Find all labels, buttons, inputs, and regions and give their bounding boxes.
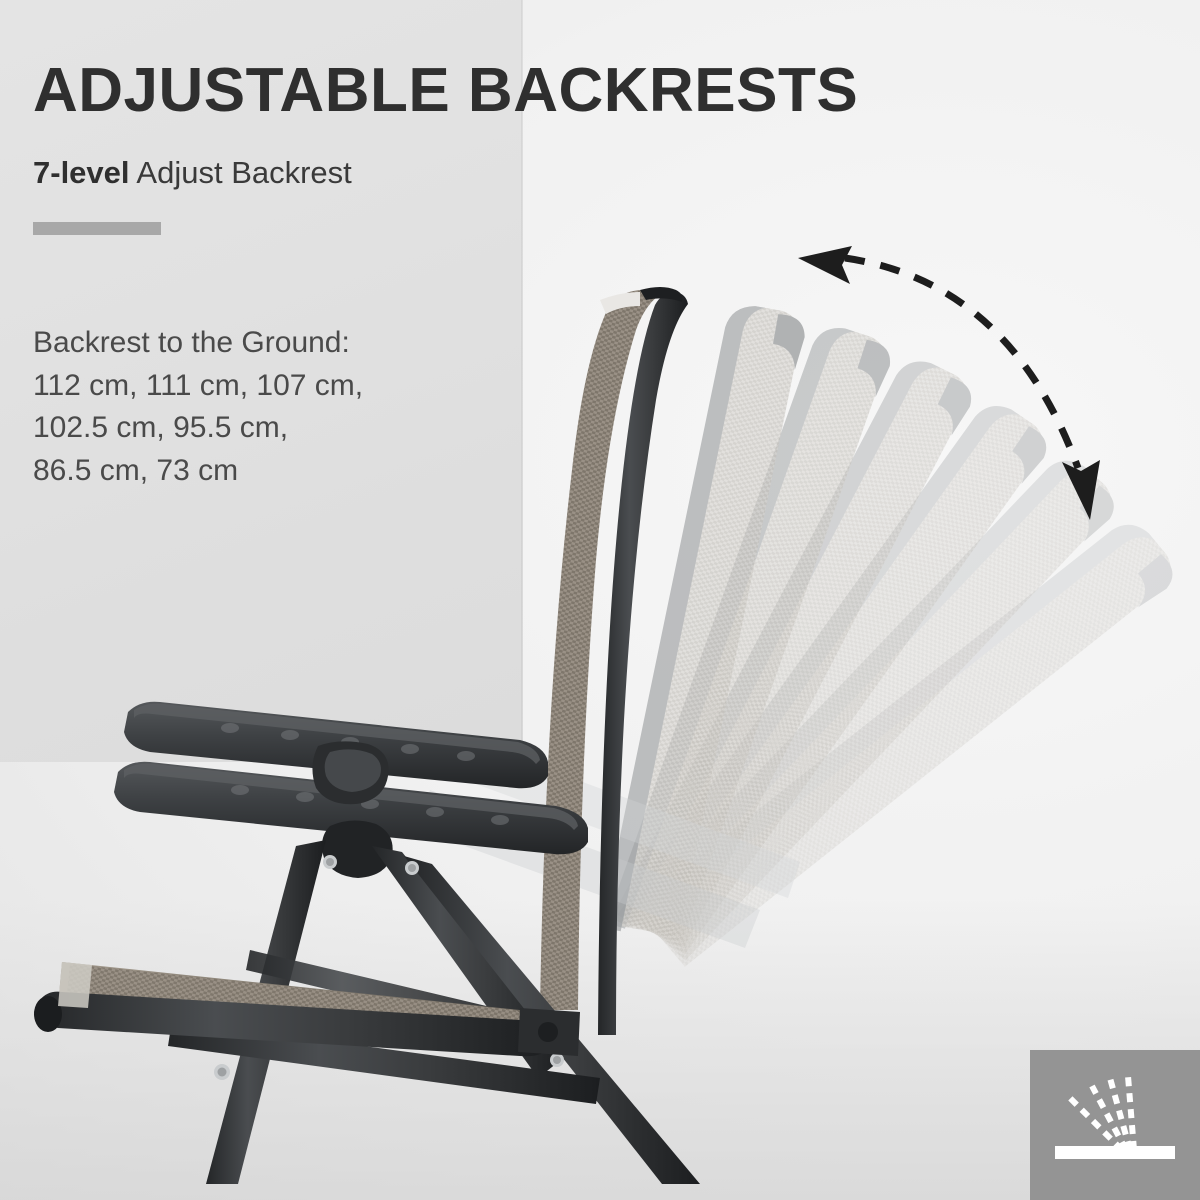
subtitle-strong: 7-level bbox=[33, 155, 130, 190]
accent-bar bbox=[33, 222, 161, 235]
badge-ground-bar bbox=[1055, 1146, 1175, 1159]
infographic-canvas: ADJUSTABLE BACKRESTS 7-level Adjust Back… bbox=[0, 0, 1200, 1200]
seat-back-junction bbox=[518, 1008, 580, 1056]
badge-dash-line-1 bbox=[1070, 1098, 1122, 1150]
badge-diagram bbox=[1030, 1050, 1200, 1200]
badge-dash-line-3 bbox=[1110, 1078, 1130, 1150]
spec-line-1: 112 cm, 111 cm, 107 cm, bbox=[33, 365, 483, 408]
spec-line-3: 86.5 cm, 73 cm bbox=[33, 450, 483, 493]
backrest-ghost-positions bbox=[601, 298, 1183, 985]
page-title: ADJUSTABLE BACKRESTS bbox=[33, 60, 858, 122]
spec-text-block: Backrest to the Ground: 112 cm, 111 cm, … bbox=[33, 322, 483, 492]
spec-label: Backrest to the Ground: bbox=[33, 322, 483, 365]
spec-line-2: 102.5 cm, 95.5 cm, bbox=[33, 407, 483, 450]
badge-dash-line-4 bbox=[1128, 1076, 1134, 1150]
recline-levels-badge bbox=[1030, 1050, 1200, 1200]
subtitle: 7-level Adjust Backrest bbox=[33, 154, 352, 191]
subtitle-rest: Adjust Backrest bbox=[130, 155, 352, 190]
